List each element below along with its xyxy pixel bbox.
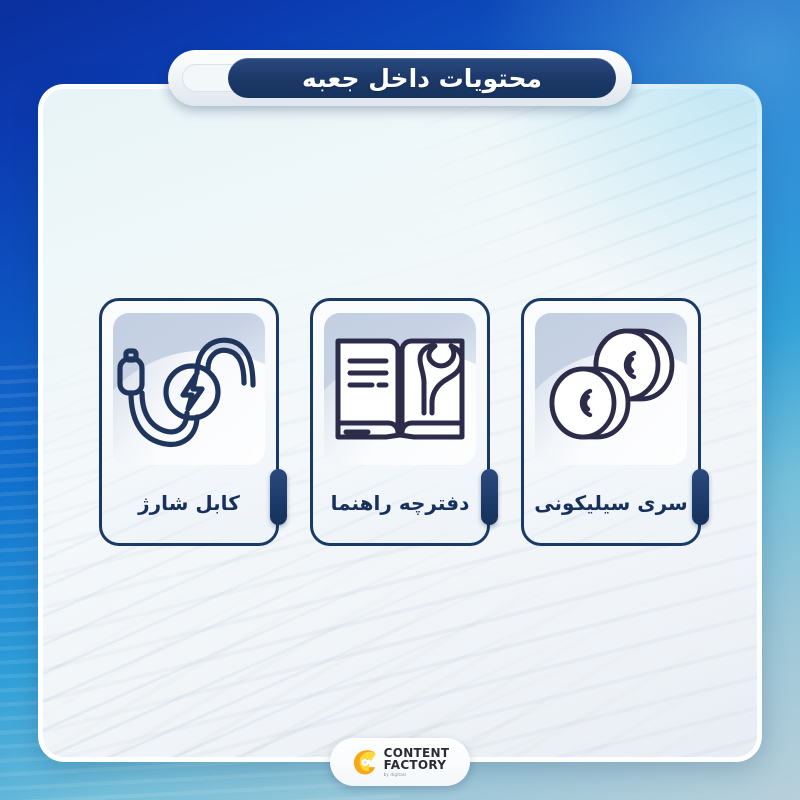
card-side-tab[interactable] <box>270 469 287 525</box>
logo-line-2: FACTORY <box>384 759 450 771</box>
icon-backdrop <box>324 313 476 465</box>
brand-logo-badge[interactable]: CONTENT FACTORY by digitals <box>330 738 470 786</box>
manual-book-wrench-icon <box>324 313 476 465</box>
page-title: محتویات داخل جعبه <box>302 64 542 93</box>
card-side-tab[interactable] <box>481 469 498 525</box>
icon-backdrop <box>535 313 687 465</box>
title-banner: محتویات داخل جعبه <box>168 50 632 106</box>
title-inner-pill: محتویات داخل جعبه <box>228 58 616 98</box>
card-label: سری سیلیکونی <box>524 491 698 515</box>
silicone-eartips-icon <box>535 313 687 465</box>
logo-wordmark: CONTENT FACTORY by digitals <box>384 747 450 777</box>
content-factory-c-icon <box>351 749 378 776</box>
icon-backdrop <box>113 313 265 465</box>
content-card-user-manual[interactable]: دفترچه راهنما <box>310 298 490 546</box>
card-label: کابل شارژ <box>102 491 276 515</box>
logo-line-3: by digitals <box>384 773 450 777</box>
card-side-tab[interactable] <box>692 469 709 525</box>
card-label: دفترچه راهنما <box>313 491 487 515</box>
charging-cable-icon <box>113 313 265 465</box>
contents-card-row: کابل شارژ <box>0 298 800 546</box>
content-card-charging-cable[interactable]: کابل شارژ <box>99 298 279 546</box>
infographic-canvas: محتویات داخل جعبه <box>0 0 800 800</box>
content-card-silicone-tips[interactable]: سری سیلیکونی <box>521 298 701 546</box>
